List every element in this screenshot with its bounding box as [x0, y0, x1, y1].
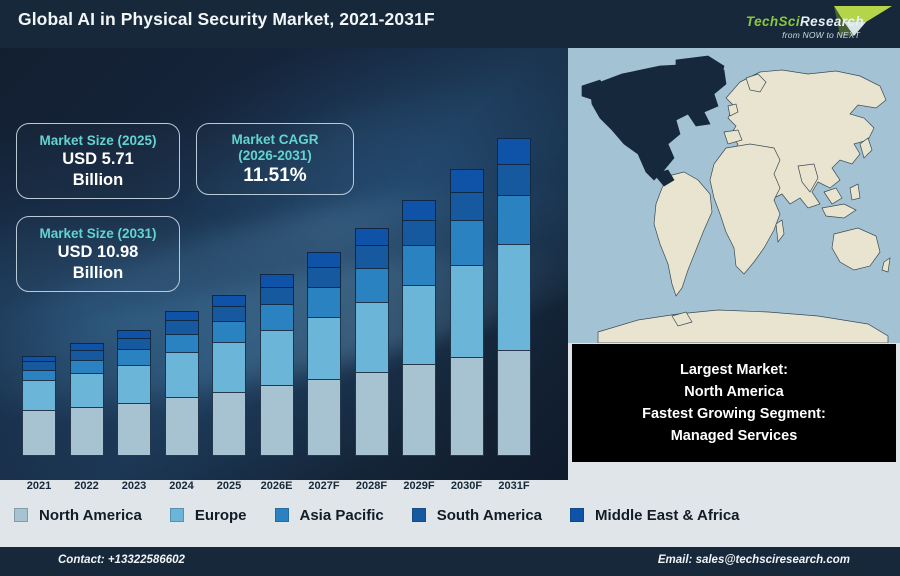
- bar-segment-north-america: [165, 397, 199, 456]
- bar-segment-europe: [22, 380, 56, 411]
- techsci-research-logo: TechSciResearch from NOW to NEXT: [716, 2, 894, 46]
- callout-line-2: North America: [684, 381, 783, 403]
- logo-word-research: Research: [800, 14, 864, 29]
- footer-bar: Contact: +13322586602 Email: sales@techs…: [0, 547, 900, 576]
- bar-2024: [165, 312, 199, 456]
- bar-2025: [212, 296, 246, 456]
- bar-segment-europe: [260, 330, 294, 386]
- bar-segment-europe: [212, 342, 246, 392]
- bar-2029F: [402, 201, 436, 456]
- bar-segment-middle-east-africa: [307, 252, 341, 268]
- legend-label: South America: [437, 507, 542, 524]
- bar-segment-south-america: [497, 164, 531, 196]
- bar-segment-asia-pacific: [402, 245, 436, 286]
- bar-2023: [117, 331, 151, 456]
- legend-swatch-icon: [275, 508, 289, 522]
- legend-swatch-icon: [412, 508, 426, 522]
- bar-segment-south-america: [212, 306, 246, 322]
- bar-segment-europe: [402, 285, 436, 365]
- bar-segment-south-america: [260, 287, 294, 305]
- legend-label: North America: [39, 507, 142, 524]
- bar-segment-europe: [450, 265, 484, 357]
- bar-segment-asia-pacific: [307, 287, 341, 318]
- stacked-bar-plot: [0, 48, 568, 480]
- bar-segment-asia-pacific: [497, 195, 531, 245]
- bar-segment-north-america: [22, 410, 56, 456]
- legend-item-south-america[interactable]: South America: [412, 507, 542, 524]
- footer-email: Email: sales@techsciresearch.com: [658, 554, 850, 566]
- bar-segment-south-america: [402, 220, 436, 247]
- legend-swatch-icon: [170, 508, 184, 522]
- bar-segment-asia-pacific: [117, 349, 151, 365]
- bar-segment-middle-east-africa: [260, 274, 294, 288]
- legend-item-asia-pacific[interactable]: Asia Pacific: [275, 507, 384, 524]
- logo-wordmark: TechSciResearch: [746, 14, 864, 29]
- chart-legend: North AmericaEuropeAsia PacificSouth Ame…: [0, 493, 900, 537]
- bar-segment-asia-pacific: [260, 304, 294, 331]
- bar-segment-europe: [307, 317, 341, 380]
- bar-2027F: [307, 253, 341, 456]
- bar-segment-asia-pacific: [165, 334, 199, 353]
- bar-segment-north-america: [450, 357, 484, 456]
- bar-segment-asia-pacific: [355, 268, 389, 303]
- header-bar: Global AI in Physical Security Market, 2…: [0, 0, 900, 48]
- bar-segment-south-america: [355, 245, 389, 269]
- world-map: [568, 48, 900, 343]
- bar-segment-europe: [355, 302, 389, 373]
- bar-segment-south-america: [307, 267, 341, 288]
- logo-word-techsci: TechSci: [746, 14, 800, 29]
- bar-segment-europe: [117, 365, 151, 404]
- infographic-root: Global AI in Physical Security Market, 2…: [0, 0, 900, 576]
- bar-segment-north-america: [355, 372, 389, 456]
- bar-segment-north-america: [212, 392, 246, 456]
- bar-segment-middle-east-africa: [355, 228, 389, 246]
- bar-segment-asia-pacific: [212, 321, 246, 343]
- callout-line-3: Fastest Growing Segment:: [642, 403, 826, 425]
- legend-item-middle-east-africa[interactable]: Middle East & Africa: [570, 507, 739, 524]
- callout-box: Largest Market: North America Fastest Gr…: [572, 344, 896, 462]
- bar-segment-north-america: [402, 364, 436, 456]
- bar-segment-middle-east-africa: [450, 169, 484, 193]
- bar-segment-asia-pacific: [450, 220, 484, 266]
- logo-tagline: from NOW to NEXT: [782, 30, 860, 40]
- legend-item-north-america[interactable]: North America: [14, 507, 142, 524]
- footer-contact: Contact: +13322586602: [58, 554, 185, 566]
- callout-line-1: Largest Market:: [680, 359, 788, 381]
- legend-label: Asia Pacific: [300, 507, 384, 524]
- legend-swatch-icon: [570, 508, 584, 522]
- x-axis-tick-2031F: 2031F: [486, 480, 542, 492]
- bar-segment-europe: [70, 373, 104, 408]
- legend-label: Middle East & Africa: [595, 507, 739, 524]
- legend-swatch-icon: [14, 508, 28, 522]
- chart-panel: Market Size (2025) USD 5.71 Billion Mark…: [0, 48, 568, 480]
- bar-segment-europe: [497, 244, 531, 350]
- callout-line-4: Managed Services: [671, 425, 798, 447]
- world-map-svg: [568, 48, 900, 343]
- bar-segment-north-america: [260, 385, 294, 456]
- legend-label: Europe: [195, 507, 247, 524]
- page-title: Global AI in Physical Security Market, 2…: [18, 9, 435, 30]
- bar-2026E: [260, 275, 294, 456]
- bar-segment-middle-east-africa: [402, 200, 436, 221]
- bar-segment-europe: [165, 352, 199, 398]
- bar-2031F: [497, 139, 531, 456]
- bar-segment-north-america: [497, 350, 531, 456]
- bar-2022: [70, 344, 104, 456]
- bar-segment-north-america: [70, 407, 104, 456]
- bar-segment-south-america: [165, 320, 199, 335]
- bar-segment-middle-east-africa: [497, 138, 531, 165]
- bar-segment-north-america: [307, 379, 341, 456]
- bar-2030F: [450, 170, 484, 456]
- legend-item-europe[interactable]: Europe: [170, 507, 247, 524]
- bar-segment-north-america: [117, 403, 151, 456]
- bar-segment-asia-pacific: [70, 360, 104, 374]
- bar-2028F: [355, 229, 389, 456]
- bar-2021: [22, 357, 56, 456]
- bar-segment-south-america: [450, 192, 484, 221]
